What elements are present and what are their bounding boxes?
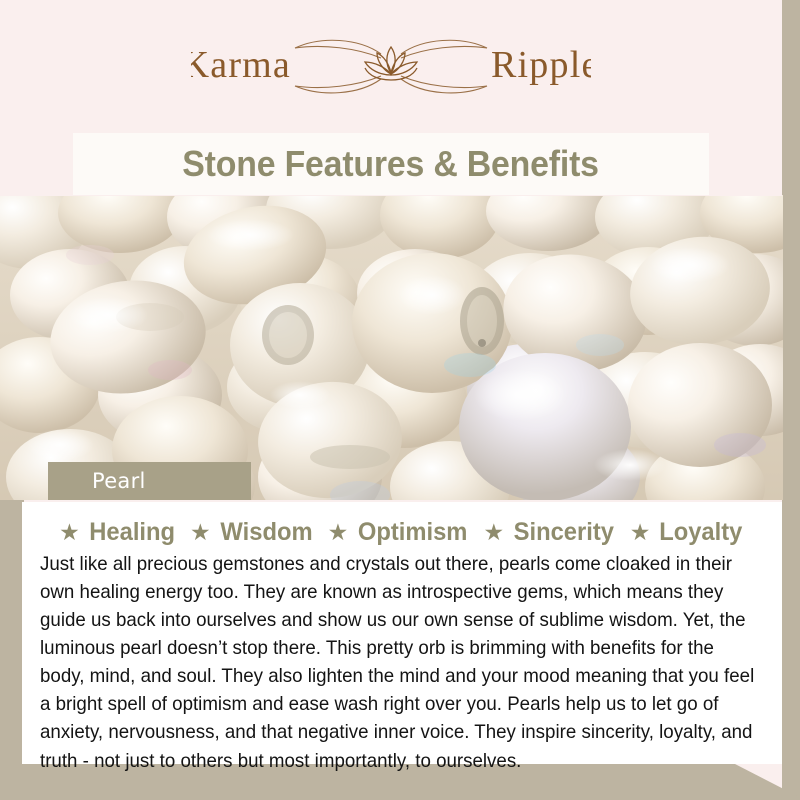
title-banner-inner: Stone Features & Benefits [73,133,709,195]
star-icon: ★ [190,521,211,544]
brand-name-left: Karma [191,44,291,86]
header: Karma Ripple [0,0,782,132]
content-card: ★Healing★Wisdom★Optimism★Sincerity★Loyal… [22,502,782,764]
stone-name-text: Pearl [48,469,146,493]
benefits-list: ★Healing★Wisdom★Optimism★Sincerity★Loyal… [40,518,764,547]
benefit-label: Optimism [358,518,468,547]
brand-name-right: Ripple [491,44,591,86]
star-icon: ★ [59,521,80,544]
star-icon: ★ [328,521,349,544]
star-icon: ★ [484,521,505,544]
benefit-item: ★Sincerity [484,518,617,547]
benefit-item: ★Loyalty [630,518,745,547]
lotus-flourish-icon: Karma Ripple [191,34,591,100]
benefit-label: Loyalty [660,518,743,547]
benefit-item: ★Healing [59,518,177,547]
stone-name-label: Pearl [48,462,251,500]
page-title: Stone Features & Benefits [183,143,600,185]
star-icon: ★ [630,521,651,544]
benefit-item: ★Wisdom [190,518,315,547]
description-text: Just like all precious gemstones and cry… [40,550,763,775]
stone-photo: Pearl [0,195,783,500]
benefit-item: ★Optimism [328,518,471,547]
benefit-label: Sincerity [514,518,614,547]
pearls-image [0,195,783,500]
brand-logo[interactable]: Karma Ripple [0,34,782,100]
frame-right-accent [782,0,800,800]
benefit-label: Wisdom [220,518,312,547]
benefit-label: Healing [89,518,175,547]
title-banner: Stone Features & Benefits [0,132,782,196]
